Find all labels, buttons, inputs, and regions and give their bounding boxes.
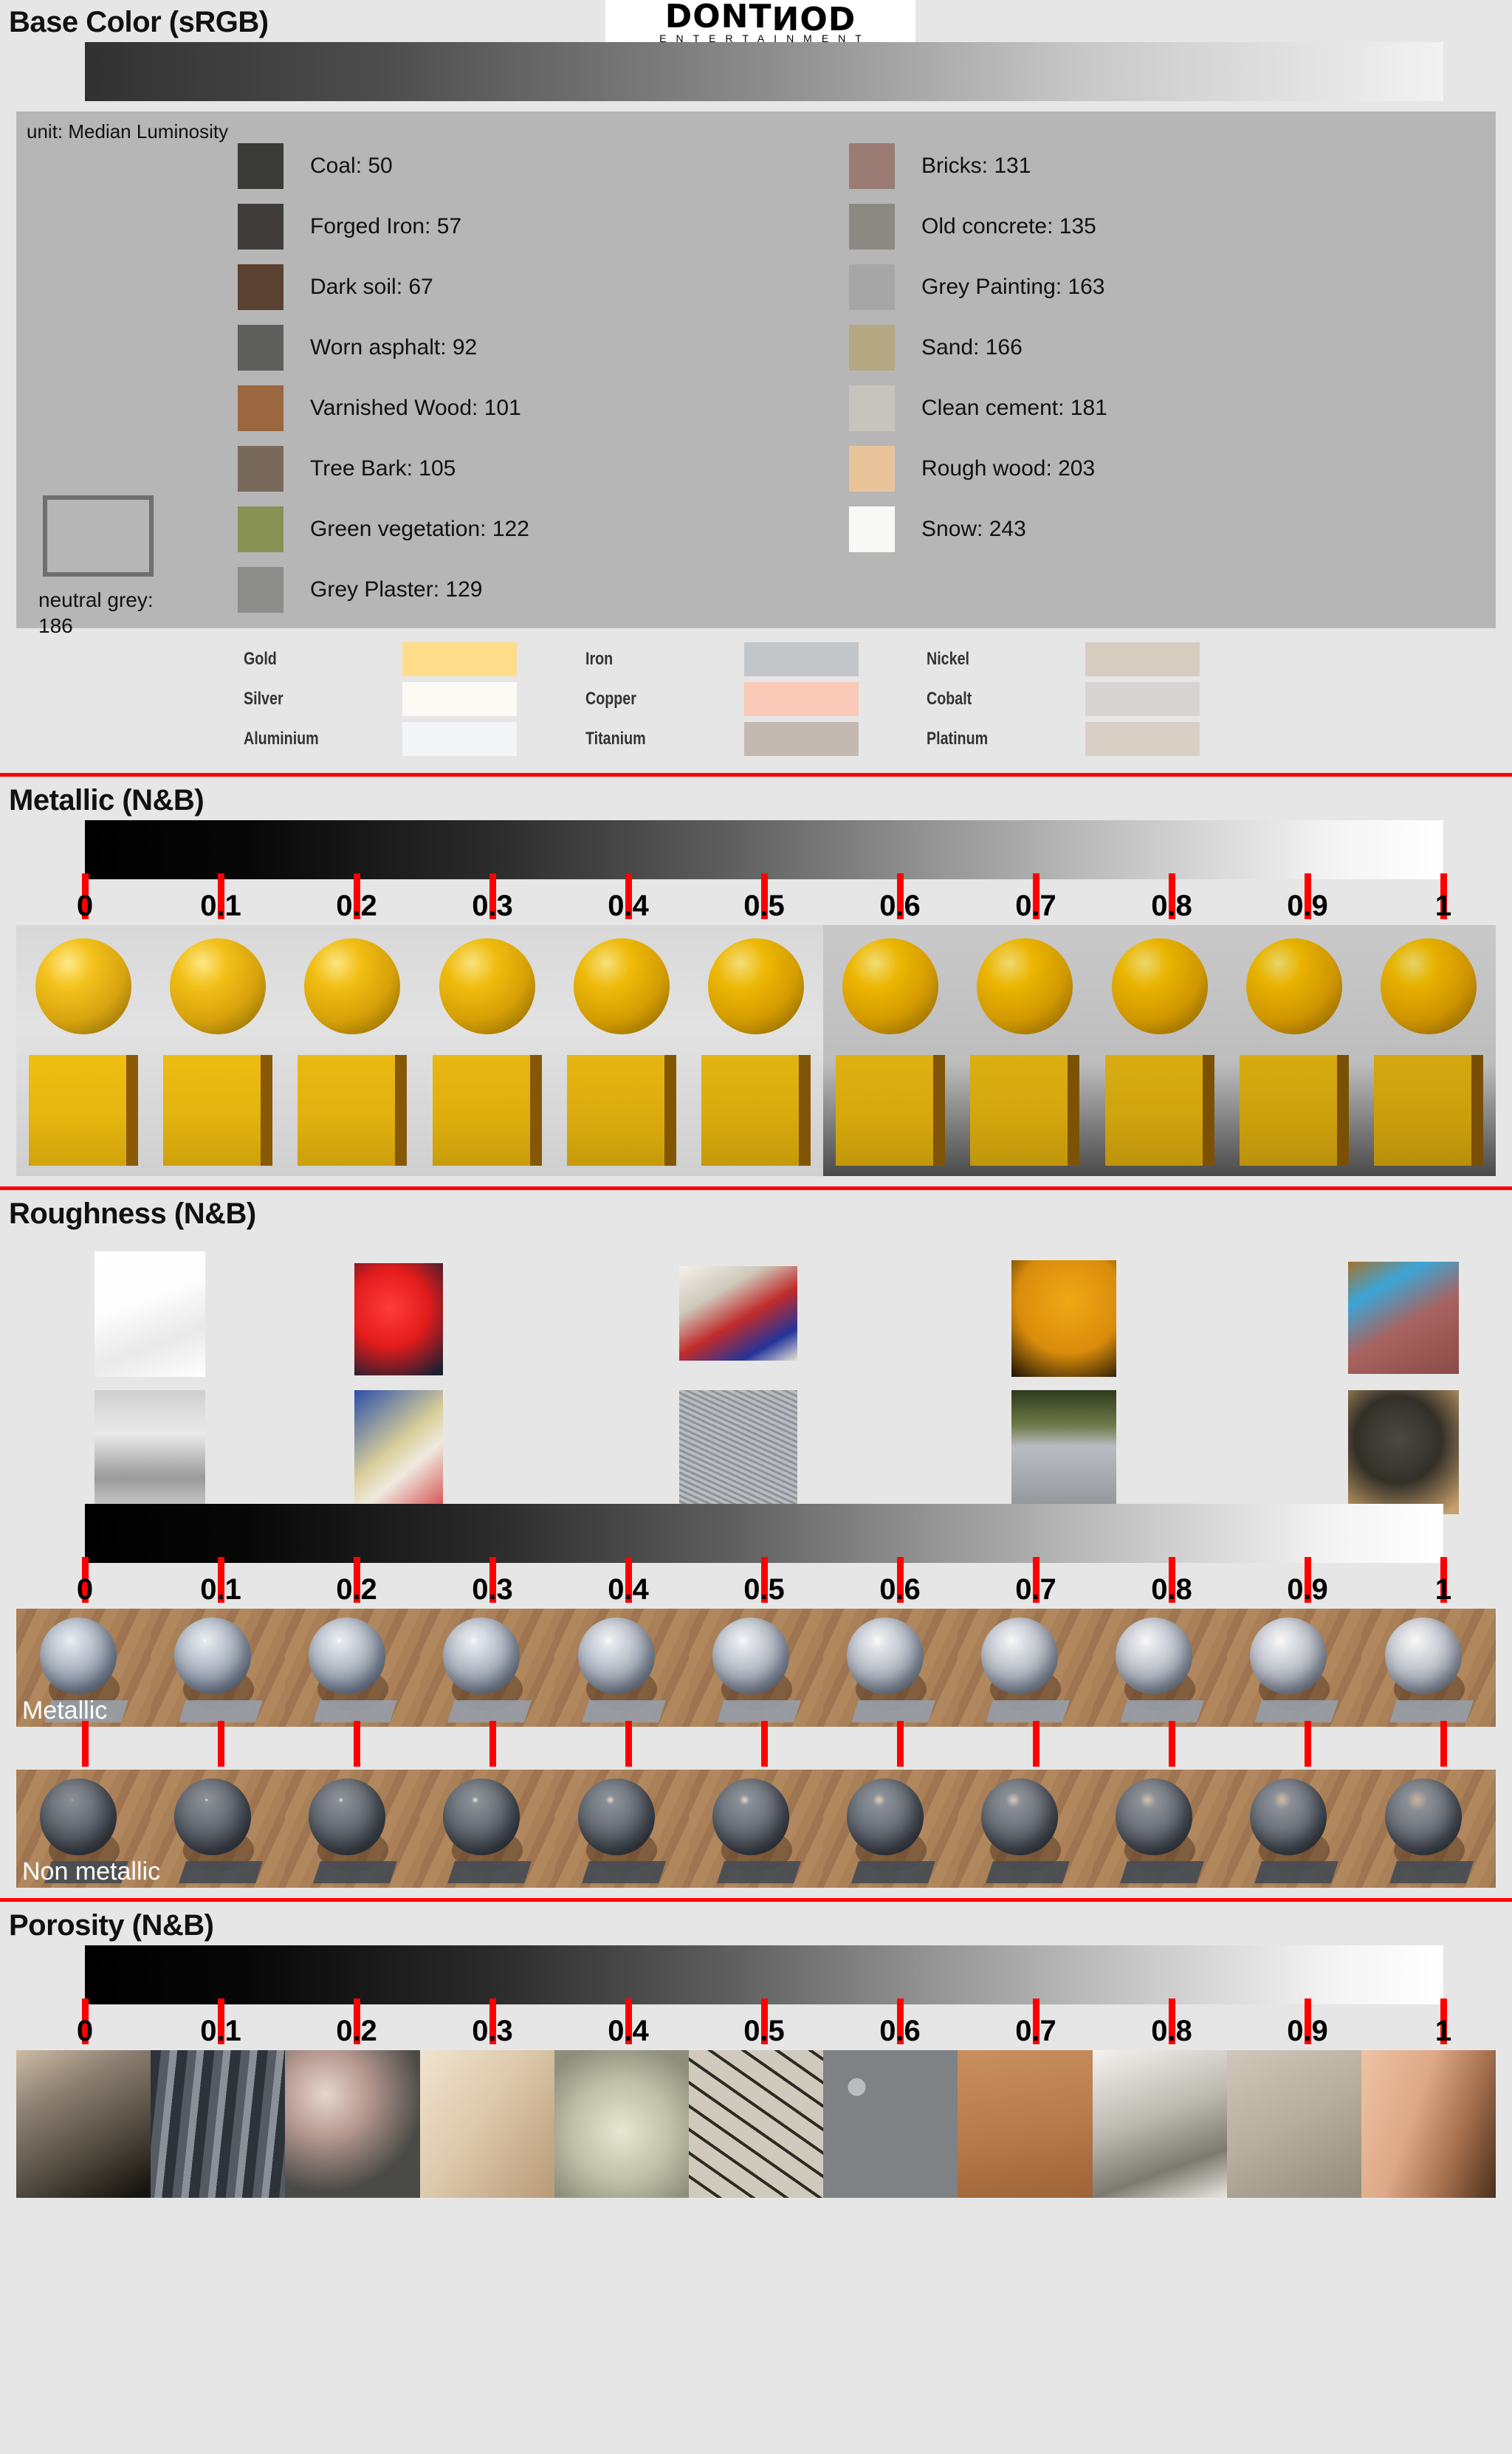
gold-sphere	[708, 938, 804, 1034]
roughness-nonmetallic-sphere-cell	[823, 1770, 958, 1888]
scale-tick-label: 0.6	[879, 890, 921, 923]
sphere-plate	[447, 1861, 532, 1883]
metallic-gradient-bar	[85, 820, 1443, 879]
roughness-sphere	[309, 1778, 385, 1855]
neutral-grey-value: 186	[38, 614, 73, 637]
scale-tick-label: 0.9	[1287, 1573, 1328, 1606]
base-color-chip-label: Worn asphalt: 92	[310, 335, 477, 360]
pen-tip-closeup-photo	[354, 1390, 443, 1517]
porosity-photo-dry-sand-dune	[1227, 2050, 1361, 2198]
neutral-grey-caption: neutral grey: 186	[38, 587, 201, 639]
base-color-swatch-row: Grey Plaster: 129	[238, 560, 529, 619]
roughness-scale: 00.10.20.30.40.50.60.70.80.91	[85, 1563, 1443, 1609]
porosity-photo-basalt-columns	[151, 2050, 285, 2198]
metal-color-chip	[1085, 722, 1200, 756]
base-color-chip-label: Green vegetation: 122	[310, 517, 529, 542]
gold-cube	[836, 1055, 945, 1166]
base-color-chip	[238, 264, 283, 310]
sphere-plate	[179, 1861, 263, 1883]
porosity-gradient-wrap	[0, 1945, 1512, 2004]
base-color-chip-label: Clean cement: 181	[921, 396, 1107, 421]
porosity-scale: 00.10.20.30.40.50.60.70.80.91	[85, 2004, 1443, 2050]
gold-cube	[433, 1055, 542, 1166]
gold-cube	[701, 1055, 811, 1166]
metallic-section: Metallic (N&B) 00.10.20.30.40.50.60.70.8…	[0, 773, 1512, 1176]
porosity-photo-wet-clay-pottery	[554, 2050, 689, 2198]
sphere-plate	[583, 1700, 667, 1722]
metal-reference-cell: Aluminium	[244, 721, 585, 757]
gold-sphere	[574, 938, 670, 1034]
roughness-metallic-sphere-cell	[1227, 1609, 1361, 1727]
metallic-sample-cell	[420, 925, 554, 1176]
metal-color-chip	[402, 722, 517, 756]
section-title-porosity: Porosity (N&B)	[0, 1902, 1512, 1945]
metal-name-label: Iron	[585, 649, 715, 670]
gold-cube	[1240, 1055, 1349, 1166]
roughness-nonmetallic-sphere-cell	[1227, 1770, 1361, 1888]
scale-tick	[1305, 1721, 1311, 1767]
roughness-nonmetallic-sphere-cell	[958, 1770, 1092, 1888]
metal-name-label: Aluminium	[244, 729, 374, 749]
sphere-plate	[1120, 1700, 1204, 1722]
metal-color-chip	[744, 722, 859, 756]
metal-name-label: Silver	[244, 689, 374, 709]
scale-tick-label: 0.9	[1287, 890, 1328, 923]
roughness-nonmetallic-sphere-cell	[554, 1770, 689, 1888]
base-color-chip-label: Coal: 50	[310, 154, 393, 179]
roughness-sphere	[1385, 1618, 1462, 1694]
scale-tick-label: 0.7	[1015, 2015, 1056, 2048]
roughness-sphere	[443, 1778, 520, 1855]
gold-sphere	[304, 938, 400, 1034]
sphere-plate	[986, 1861, 1070, 1883]
roughness-sphere	[174, 1618, 251, 1694]
base-color-chip	[849, 385, 895, 431]
sphere-plate	[986, 1700, 1070, 1722]
scale-tick-label: 0.4	[608, 2015, 649, 2048]
gold-cube	[1105, 1055, 1214, 1166]
porosity-photo-pebble-wall	[823, 2050, 958, 2198]
scale-tick-label: 0.4	[608, 1573, 649, 1606]
base-color-swatch-row: Dark soil: 67	[238, 258, 529, 317]
metallic-sample-cell	[823, 925, 958, 1176]
sphere-plate	[851, 1700, 935, 1722]
gold-sphere	[1381, 938, 1477, 1034]
roughness-sphere	[847, 1778, 924, 1855]
scale-tick-label: 0.6	[879, 1573, 921, 1606]
scale-tick-label: 0.8	[1151, 1573, 1192, 1606]
scale-tick-label: 0.5	[743, 1573, 785, 1606]
metal-color-chip	[1085, 642, 1200, 676]
roughness-nonmetallic-sphere-cell	[285, 1770, 419, 1888]
metallic-sample-cell	[285, 925, 419, 1176]
unit-label: unit: Median Luminosity	[27, 120, 228, 143]
sphere-plate	[1120, 1861, 1204, 1883]
base-color-chip	[238, 143, 283, 189]
logo-wordmark-right: NOD	[772, 1, 856, 32]
roughness-sphere	[847, 1618, 924, 1694]
scale-tick-label: 0.8	[1151, 890, 1192, 923]
base-color-chip	[238, 385, 283, 431]
base-color-chip-label: Old concrete: 135	[921, 214, 1096, 239]
gold-cube	[567, 1055, 676, 1166]
roughness-sphere	[174, 1778, 251, 1855]
roughness-nonmetallic-sphere-cell	[1093, 1770, 1227, 1888]
metal-reference-cell: Gold	[244, 642, 585, 677]
base-color-chip	[849, 264, 895, 310]
metal-reference-cell: Cobalt	[927, 681, 1268, 717]
scale-tick-label: 0.3	[472, 1573, 513, 1606]
gold-sphere	[170, 938, 266, 1034]
scale-tick	[1440, 1721, 1447, 1767]
metal-color-chip	[744, 642, 859, 676]
old-coins-photo	[1348, 1390, 1459, 1514]
metal-reference-cell: Copper	[585, 681, 927, 717]
roughness-sphere	[1250, 1778, 1327, 1855]
porosity-photo-granite	[285, 2050, 419, 2198]
roughness-metallic-sphere-cell	[151, 1609, 285, 1727]
metallic-sample-cell	[958, 925, 1092, 1176]
base-color-swatch-row: Worn asphalt: 92	[238, 318, 529, 377]
base-color-swatch-row: Old concrete: 135	[849, 197, 1107, 256]
metallic-sample-cell	[1227, 925, 1361, 1176]
base-color-gradient-wrap	[0, 42, 1512, 101]
metallic-sample-cell	[151, 925, 285, 1176]
base-color-chip-label: Dark soil: 67	[310, 275, 433, 300]
sphere-plate	[583, 1861, 667, 1883]
roughness-sphere	[40, 1778, 117, 1855]
scale-tick-label: 0.1	[200, 1573, 241, 1606]
scale-tick	[897, 1721, 904, 1767]
sphere-plate	[1255, 1861, 1339, 1883]
roughness-sphere	[981, 1618, 1058, 1694]
metallic-scale: 00.10.20.30.40.50.60.70.80.91	[85, 879, 1443, 925]
base-color-swatch-row: Green vegetation: 122	[238, 500, 529, 559]
roughness-sphere	[309, 1618, 385, 1694]
sphere-plate	[717, 1861, 801, 1883]
roughness-row-label-metallic: Metallic	[22, 1697, 107, 1725]
base-color-chip	[238, 506, 283, 552]
base-color-swatch-row: Clean cement: 181	[849, 379, 1107, 438]
porosity-photo-slate-rock	[16, 2050, 151, 2198]
roughness-sphere	[712, 1778, 789, 1855]
base-color-chip-label: Grey Painting: 163	[921, 275, 1104, 300]
scale-tick-label: 0	[77, 2015, 93, 2048]
sphere-plate	[313, 1861, 397, 1883]
gold-cube	[1374, 1055, 1483, 1166]
metal-color-chip	[402, 642, 517, 676]
roughness-nonmetallic-sphere-cell	[689, 1770, 823, 1888]
roughness-nonmetallic-sphere-cell	[420, 1770, 554, 1888]
pbr-reference-page: Base Color (sRGB) DONTNOD ENTERTAINMENT …	[0, 0, 1512, 2454]
gold-sphere	[1246, 938, 1342, 1034]
metal-color-chip	[744, 682, 859, 716]
metallic-sample-cell	[16, 925, 151, 1176]
metal-reference-cell: Nickel	[927, 642, 1268, 677]
scale-tick	[625, 1721, 632, 1767]
scale-tick-label: 0.5	[743, 2015, 785, 2048]
base-color-chip-label: Snow: 243	[921, 517, 1026, 542]
scale-tick-label: 0.3	[472, 2015, 513, 2048]
metallic-sample-row	[16, 925, 1496, 1176]
base-color-chip-label: Rough wood: 203	[921, 456, 1095, 481]
scale-tick-label: 0.7	[1015, 1573, 1056, 1606]
roughness-sphere	[40, 1618, 117, 1694]
metallic-sample-cell	[1093, 925, 1227, 1176]
gold-sphere	[35, 938, 131, 1034]
metal-name-label: Platinum	[927, 729, 1056, 749]
base-color-column-left: Coal: 50Forged Iron: 57Dark soil: 67Worn…	[238, 137, 529, 621]
base-color-column-right: Bricks: 131Old concrete: 135Grey Paintin…	[849, 137, 1107, 560]
base-color-chip	[849, 506, 895, 552]
metallic-gradient-wrap	[0, 820, 1512, 879]
roughness-scale-mid	[85, 1727, 1443, 1770]
roughness-metallic-sphere-cell	[285, 1609, 419, 1727]
base-color-swatch-row: Grey Painting: 163	[849, 258, 1107, 317]
scale-tick-label: 0.4	[608, 890, 649, 923]
roughness-row-label-non-metallic: Non metallic	[22, 1857, 160, 1886]
base-color-swatch-panel: unit: Median Luminosity neutral grey: 18…	[16, 111, 1496, 628]
base-color-chip-label: Forged Iron: 57	[310, 214, 461, 239]
logo-wordmark: DONTNOD	[605, 1, 915, 32]
scale-tick-label: 0.2	[336, 1573, 377, 1606]
amber-plastic-cap-photo	[1011, 1260, 1116, 1377]
roughness-metallic-sample-row: Metallic	[16, 1609, 1496, 1727]
metallic-sample-cell	[689, 925, 823, 1176]
base-color-swatch-row: Tree Bark: 105	[238, 439, 529, 498]
scale-tick-label: 0.5	[743, 890, 785, 923]
base-color-chip-label: Sand: 166	[921, 335, 1023, 360]
scale-tick	[489, 1721, 496, 1767]
base-color-swatch-row: Snow: 243	[849, 500, 1107, 559]
scale-tick	[1169, 1721, 1175, 1767]
base-color-swatch-row: Forged Iron: 57	[238, 197, 529, 256]
gold-sphere	[1112, 938, 1208, 1034]
roughness-section: Roughness (N&B) 00.10.20.30.40.50.60.70.…	[0, 1186, 1512, 1888]
base-color-swatch-row: Coal: 50	[238, 137, 529, 196]
scale-tick-label: 0	[77, 1573, 93, 1606]
roughness-nonmetallic-sample-row: Non metallic	[16, 1770, 1496, 1888]
scale-tick	[761, 1721, 768, 1767]
metal-color-chip	[402, 682, 517, 716]
gold-cube	[29, 1055, 138, 1166]
metal-colander-photo	[679, 1390, 797, 1511]
gold-cube	[970, 1055, 1079, 1166]
porosity-photo-limestone	[420, 2050, 554, 2198]
roughness-sphere	[1385, 1778, 1462, 1855]
gold-cube	[163, 1055, 272, 1166]
porosity-photo-cracked-mud	[689, 2050, 823, 2198]
logo-wordmark-left: DONT	[665, 0, 772, 35]
roughness-sphere	[578, 1778, 655, 1855]
sphere-plate	[717, 1700, 801, 1722]
base-color-chip	[849, 143, 895, 189]
scale-tick-label: 0.2	[336, 2015, 377, 2048]
gold-cube	[298, 1055, 407, 1166]
roughness-sphere	[1250, 1618, 1327, 1694]
base-color-chip-label: Varnished Wood: 101	[310, 396, 521, 421]
scale-tick-label: 1	[1435, 1573, 1451, 1606]
porosity-photo-snow-sand	[1093, 2050, 1227, 2198]
neutral-grey-box	[43, 495, 154, 577]
metal-name-label: Gold	[244, 649, 374, 670]
base-color-chip-label: Bricks: 131	[921, 154, 1031, 179]
roughness-nonmetallic-sphere-cell	[151, 1770, 285, 1888]
scale-tick	[82, 1721, 89, 1767]
metal-name-label: Nickel	[927, 649, 1056, 670]
gold-sphere	[842, 938, 938, 1034]
scale-tick-label: 1	[1435, 2015, 1451, 2048]
section-title-metallic: Metallic (N&B)	[0, 777, 1512, 820]
roughness-photo-reference-grid	[16, 1245, 1496, 1504]
glass-tumbler-photo	[94, 1251, 205, 1377]
roughness-metallic-sphere-cell	[958, 1609, 1092, 1727]
porosity-sample-row	[16, 2050, 1496, 2198]
pens-on-notes-photo	[679, 1266, 797, 1361]
porosity-gradient-bar	[85, 1945, 1443, 2004]
gold-sphere	[977, 938, 1073, 1034]
roughness-sphere	[1116, 1618, 1192, 1694]
metal-name-label: Copper	[585, 689, 715, 709]
roughness-sphere	[1116, 1778, 1192, 1855]
base-color-chip-label: Grey Plaster: 129	[310, 577, 482, 602]
roughness-gradient-wrap	[0, 1504, 1512, 1563]
scale-tick	[1033, 1721, 1039, 1767]
scale-tick-label: 0	[77, 890, 93, 923]
scale-tick	[218, 1721, 224, 1767]
roughness-sphere	[578, 1618, 655, 1694]
metal-reference-cell: Platinum	[927, 721, 1268, 757]
roughness-metallic-sphere-cell	[1093, 1609, 1227, 1727]
base-color-chip	[849, 446, 895, 492]
scale-tick-label: 0.1	[200, 890, 241, 923]
section-title-roughness: Roughness (N&B)	[0, 1190, 1512, 1234]
roughness-sphere	[981, 1778, 1058, 1855]
metallic-sample-cell	[1361, 925, 1496, 1176]
dontnod-logo: DONTNOD ENTERTAINMENT	[605, 0, 915, 47]
base-color-swatch-row: Bricks: 131	[849, 137, 1107, 196]
base-color-chip	[849, 204, 895, 250]
roughness-sphere	[712, 1618, 789, 1694]
metal-name-label: Cobalt	[927, 689, 1056, 709]
metal-name-label: Titanium	[585, 729, 715, 749]
metal-reference-cell: Silver	[244, 681, 585, 717]
base-color-chip	[849, 325, 895, 371]
metallic-sample-cell	[554, 925, 689, 1176]
roughness-sphere	[443, 1618, 520, 1694]
base-color-gradient-bar	[85, 42, 1443, 101]
base-color-chip	[238, 325, 283, 371]
eraser-photo	[1348, 1262, 1459, 1374]
roughness-metallic-sphere-cell	[823, 1609, 958, 1727]
metal-reference-grid: GoldIronNickelSilverCopperCobaltAluminiu…	[244, 642, 1268, 757]
scale-tick-label: 0.6	[879, 2015, 921, 2048]
roughness-nonmetallic-sphere-cell	[1361, 1770, 1496, 1888]
sphere-plate	[447, 1700, 532, 1722]
scale-tick-label: 0.3	[472, 890, 513, 923]
base-color-chip	[238, 567, 283, 613]
scale-tick-label: 0.8	[1151, 2015, 1192, 2048]
porosity-section: Porosity (N&B) 00.10.20.30.40.50.60.70.8…	[0, 1898, 1512, 2198]
metal-reference-cell: Titanium	[585, 721, 927, 757]
scale-tick-label: 1	[1435, 890, 1451, 923]
metal-color-chip	[1085, 682, 1200, 716]
neutral-grey-label: neutral grey:	[38, 588, 154, 611]
mirror-egg-photo	[94, 1390, 205, 1516]
porosity-photo-sandstone	[958, 2050, 1092, 2198]
scale-tick-label: 0.7	[1015, 890, 1056, 923]
roughness-metallic-sphere-cell	[554, 1609, 689, 1727]
base-color-swatch-row: Sand: 166	[849, 318, 1107, 377]
scale-tick	[354, 1721, 360, 1767]
roughness-gradient-bar	[85, 1504, 1443, 1563]
red-gift-bow-photo	[354, 1263, 443, 1375]
sphere-plate	[313, 1700, 397, 1722]
base-color-chip-label: Tree Bark: 105	[310, 456, 456, 481]
sphere-plate	[1255, 1700, 1339, 1722]
base-color-chip	[238, 204, 283, 250]
base-color-swatch-row: Varnished Wood: 101	[238, 379, 529, 438]
roughness-metallic-sphere-cell	[1361, 1609, 1496, 1727]
cactus-metal-pot-photo	[1011, 1390, 1116, 1516]
gold-sphere	[439, 938, 535, 1034]
metal-reference-cell: Iron	[585, 642, 927, 677]
sphere-plate	[851, 1861, 935, 1883]
scale-tick-label: 0.9	[1287, 2015, 1328, 2048]
sphere-plate	[1389, 1700, 1474, 1722]
sphere-plate	[1389, 1861, 1474, 1883]
scale-tick-label: 0.1	[200, 2015, 241, 2048]
base-color-swatch-row: Rough wood: 203	[849, 439, 1107, 498]
porosity-photo-terracotta-pot	[1361, 2050, 1496, 2198]
roughness-metallic-sphere-cell	[689, 1609, 823, 1727]
base-color-chip	[238, 446, 283, 492]
roughness-metallic-sphere-cell	[420, 1609, 554, 1727]
sphere-plate	[179, 1700, 263, 1722]
scale-tick-label: 0.2	[336, 890, 377, 923]
